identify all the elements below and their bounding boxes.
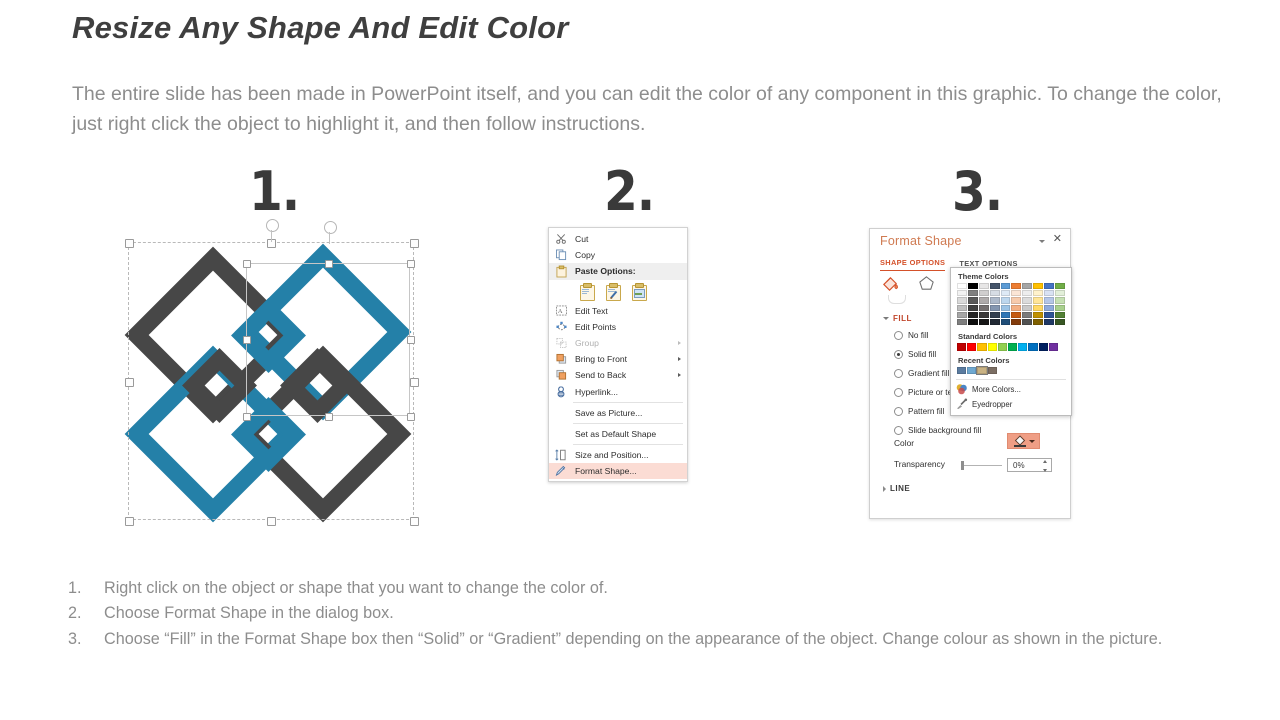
- theme-color-swatch-2-8[interactable]: [1044, 297, 1054, 303]
- transparency-input[interactable]: 0%: [1007, 458, 1052, 472]
- step-number-3: 3.: [952, 160, 1002, 223]
- theme-color-swatch-1-2[interactable]: [979, 290, 989, 296]
- submenu-arrow-icon: [678, 357, 681, 361]
- rotate-stem-inner: [329, 232, 330, 244]
- menu-item-edit-points[interactable]: Edit Points: [549, 319, 687, 335]
- edit-points-icon: [554, 320, 568, 333]
- instruction-item: 1. Right click on the object or shape th…: [68, 576, 1278, 601]
- menu-item-hyperlink[interactable]: Hyperlink...: [549, 384, 687, 400]
- spinner-down-icon: [1043, 469, 1047, 472]
- rotate-handle-outer-icon[interactable]: [266, 219, 279, 232]
- step-number-1: 1.: [249, 160, 299, 223]
- theme-color-swatch-1-6[interactable]: [1022, 290, 1032, 296]
- transparency-slider-track[interactable]: [962, 465, 1002, 466]
- menu-label: Group: [575, 338, 599, 348]
- format-shape-icon: [554, 465, 568, 478]
- transparency-slider-knob[interactable]: [961, 461, 964, 470]
- more-colors-label: More Colors...: [972, 385, 1021, 394]
- transparency-label: Transparency: [894, 459, 945, 469]
- standard-color-swatch-0[interactable]: [957, 343, 966, 350]
- theme-color-swatch-2-2[interactable]: [979, 297, 989, 303]
- inner-selection-box: [246, 263, 410, 416]
- theme-color-swatch-3-7[interactable]: [1033, 305, 1043, 311]
- menu-separator: [573, 444, 683, 445]
- active-icon-underline: [888, 295, 906, 304]
- shape-selection-area[interactable]: [118, 228, 424, 530]
- theme-color-swatch-0-0[interactable]: [957, 283, 967, 289]
- menu-item-edit-text[interactable]: A Edit Text: [549, 303, 687, 319]
- theme-color-swatch-0-9[interactable]: [1055, 283, 1065, 289]
- line-section-header[interactable]: LINE: [883, 484, 910, 493]
- theme-color-swatch-5-5[interactable]: [1011, 319, 1021, 325]
- paste-use-destination-theme-icon[interactable]: [605, 283, 620, 299]
- recent-color-swatch-1[interactable]: [967, 367, 976, 374]
- inner-handle-top-left[interactable]: [243, 260, 251, 268]
- scissors-icon: [554, 233, 568, 246]
- theme-color-swatch-2-0[interactable]: [957, 297, 967, 303]
- radio-solid-fill[interactable]: Solid fill: [894, 350, 936, 359]
- dropdown-separator: [956, 379, 1066, 380]
- menu-item-group: Group: [549, 335, 687, 351]
- page-subtitle: The entire slide has been made in PowerP…: [72, 80, 1222, 139]
- theme-color-swatch-4-0[interactable]: [957, 312, 967, 318]
- theme-color-swatch-0-5[interactable]: [1011, 283, 1021, 289]
- group-icon: [554, 337, 568, 350]
- theme-color-swatch-2-7[interactable]: [1033, 297, 1043, 303]
- radio-label: No fill: [908, 331, 928, 340]
- radio-gradient-fill[interactable]: Gradient fill: [894, 369, 949, 378]
- standard-color-swatch-5[interactable]: [1008, 343, 1017, 350]
- menu-item-save-as-picture[interactable]: Save as Picture...: [549, 405, 687, 421]
- standard-color-swatch-7[interactable]: [1028, 343, 1037, 350]
- theme-color-swatch-4-8[interactable]: [1044, 312, 1054, 318]
- menu-item-cut[interactable]: Cut: [549, 231, 687, 247]
- menu-label: Set as Default Shape: [575, 429, 656, 439]
- standard-color-swatch-6[interactable]: [1018, 343, 1027, 350]
- theme-color-swatch-5-8[interactable]: [1044, 319, 1054, 325]
- theme-color-swatch-2-5[interactable]: [1011, 297, 1021, 303]
- menu-item-format-shape[interactable]: Format Shape...: [549, 463, 687, 479]
- theme-color-swatch-0-6[interactable]: [1022, 283, 1032, 289]
- transparency-value: 0%: [1013, 461, 1025, 470]
- radio-indicator: [894, 407, 903, 416]
- theme-color-swatch-5-2[interactable]: [979, 319, 989, 325]
- instruction-number: 2.: [68, 601, 104, 626]
- menu-label: Send to Back: [575, 370, 626, 380]
- menu-item-copy[interactable]: Copy: [549, 247, 687, 263]
- theme-color-swatch-3-1[interactable]: [968, 305, 978, 311]
- instruction-text: Choose Format Shape in the dialog box.: [104, 601, 1278, 626]
- radio-slide-background-fill[interactable]: Slide background fill: [894, 426, 981, 435]
- clipboard-icon: [554, 265, 568, 278]
- standard-color-swatch-1[interactable]: [967, 343, 976, 350]
- color-label: Color: [894, 438, 914, 448]
- radio-indicator: [894, 426, 903, 435]
- instruction-text: Right click on the object or shape that …: [104, 576, 1278, 601]
- theme-color-swatch-0-1[interactable]: [968, 283, 978, 289]
- theme-color-swatch-4-3[interactable]: [990, 312, 1000, 318]
- close-icon[interactable]: ✕: [1053, 234, 1062, 245]
- radio-label: Pattern fill: [908, 407, 944, 416]
- radio-indicator: [894, 350, 903, 359]
- spinner-up-icon: [1043, 460, 1047, 463]
- svg-text:A: A: [557, 308, 562, 315]
- recent-color-swatch-2[interactable]: [977, 367, 986, 374]
- menu-label: Paste Options:: [575, 266, 636, 276]
- theme-color-swatch-5-0[interactable]: [957, 319, 967, 325]
- spinner-buttons[interactable]: [1041, 460, 1049, 472]
- theme-color-swatch-3-2[interactable]: [979, 305, 989, 311]
- theme-color-swatch-4-6[interactable]: [1022, 312, 1032, 318]
- fill-bucket-icon: [1013, 435, 1027, 447]
- tab-shape-options[interactable]: SHAPE OPTIONS: [880, 258, 945, 271]
- resize-handle-middle-left[interactable]: [125, 378, 134, 387]
- theme-color-swatch-3-3[interactable]: [990, 305, 1000, 311]
- inner-handle-top-right[interactable]: [407, 260, 415, 268]
- menu-label: Save as Picture...: [575, 408, 642, 418]
- standard-color-swatch-4[interactable]: [998, 343, 1007, 350]
- standard-colors-title: Standard Colors: [951, 330, 1071, 343]
- theme-color-swatch-4-1[interactable]: [968, 312, 978, 318]
- theme-color-swatch-3-9[interactable]: [1055, 305, 1065, 311]
- radio-label: Slide background fill: [908, 426, 981, 435]
- send-to-back-icon: [554, 369, 568, 382]
- instruction-number: 1.: [68, 576, 104, 601]
- theme-color-swatch-3-0[interactable]: [957, 305, 967, 311]
- standard-color-swatch-2[interactable]: [977, 343, 986, 350]
- theme-color-swatch-2-9[interactable]: [1055, 297, 1065, 303]
- eyedropper-label: Eyedropper: [972, 400, 1012, 409]
- collapse-triangle-icon: [883, 486, 886, 492]
- inner-handle-middle-left[interactable]: [243, 336, 251, 344]
- theme-color-swatch-3-8[interactable]: [1044, 305, 1054, 311]
- resize-handle-bottom-left[interactable]: [125, 517, 134, 526]
- theme-color-swatch-1-9[interactable]: [1055, 290, 1065, 296]
- standard-colors-row[interactable]: [951, 343, 1071, 353]
- radio-indicator: [894, 388, 903, 397]
- theme-color-swatch-1-1[interactable]: [968, 290, 978, 296]
- theme-color-swatch-0-8[interactable]: [1044, 283, 1054, 289]
- color-wheel-icon: [956, 384, 968, 395]
- theme-color-swatch-4-5[interactable]: [1011, 312, 1021, 318]
- chevron-down-icon[interactable]: [1039, 240, 1045, 243]
- copy-icon: [554, 249, 568, 262]
- theme-color-swatch-1-5[interactable]: [1011, 290, 1021, 296]
- instruction-item: 3. Choose “Fill” in the Format Shape box…: [68, 627, 1278, 652]
- menu-separator: [573, 402, 683, 403]
- size-position-icon: [554, 449, 568, 462]
- menu-label: Format Shape...: [575, 466, 637, 476]
- submenu-arrow-icon: [678, 373, 681, 377]
- radio-indicator: [894, 369, 903, 378]
- color-dropdown-arrow-icon[interactable]: [1029, 440, 1035, 443]
- submenu-arrow-icon: [678, 341, 681, 345]
- rotate-stem-outer: [271, 230, 272, 242]
- page-title: Resize Any Shape And Edit Color: [72, 10, 569, 46]
- recent-colors-title: Recent Colors: [951, 354, 1071, 367]
- theme-color-swatch-2-6[interactable]: [1022, 297, 1032, 303]
- menu-label: Copy: [575, 250, 595, 260]
- instruction-number: 3.: [68, 627, 104, 652]
- theme-color-swatch-4-2[interactable]: [979, 312, 989, 318]
- effects-icon[interactable]: [916, 274, 938, 294]
- theme-color-swatch-0-3[interactable]: [990, 283, 1000, 289]
- menu-item-paste-options[interactable]: Paste Options:: [549, 263, 687, 279]
- theme-color-swatch-2-3[interactable]: [990, 297, 1000, 303]
- recent-color-swatch-3[interactable]: [988, 367, 997, 374]
- theme-color-swatch-5-3[interactable]: [990, 319, 1000, 325]
- theme-colors-grid[interactable]: [951, 283, 1071, 327]
- paste-picture-icon[interactable]: [631, 283, 646, 299]
- fill-color-button[interactable]: [1007, 433, 1040, 449]
- radio-label: Solid fill: [908, 350, 936, 359]
- theme-color-swatch-5-1[interactable]: [968, 319, 978, 325]
- radio-label: Gradient fill: [908, 369, 949, 378]
- color-dropdown[interactable]: Theme Colors Standard Colors Recent Colo…: [950, 267, 1072, 416]
- standard-color-swatch-9[interactable]: [1049, 343, 1058, 350]
- theme-color-swatch-1-4[interactable]: [1001, 290, 1011, 296]
- more-colors-option[interactable]: More Colors...: [951, 382, 1071, 397]
- instruction-text: Choose “Fill” in the Format Shape box th…: [104, 627, 1278, 652]
- theme-color-swatch-5-9[interactable]: [1055, 319, 1065, 325]
- theme-color-swatch-0-2[interactable]: [979, 283, 989, 289]
- eyedropper-icon: [956, 399, 968, 410]
- instructions-list: 1. Right click on the object or shape th…: [68, 576, 1278, 652]
- radio-pattern-fill[interactable]: Pattern fill: [894, 407, 944, 416]
- recent-colors-row[interactable]: [951, 367, 1071, 377]
- step-number-2: 2.: [604, 160, 654, 223]
- slide-canvas: Resize Any Shape And Edit Color The enti…: [0, 0, 1280, 720]
- recent-color-swatch-0[interactable]: [957, 367, 966, 374]
- theme-color-swatch-4-4[interactable]: [1001, 312, 1011, 318]
- resize-handle-top-right[interactable]: [410, 239, 419, 248]
- radio-no-fill[interactable]: No fill: [894, 331, 928, 340]
- theme-color-swatch-5-7[interactable]: [1033, 319, 1043, 325]
- inner-handle-bottom-left[interactable]: [243, 413, 251, 421]
- theme-colors-title: Theme Colors: [951, 270, 1071, 283]
- fill-section-header[interactable]: FILL: [883, 314, 912, 323]
- theme-color-swatch-0-4[interactable]: [1001, 283, 1011, 289]
- menu-label: Edit Text: [575, 306, 608, 316]
- theme-color-swatch-1-8[interactable]: [1044, 290, 1054, 296]
- menu-item-send-to-back[interactable]: Send to Back: [549, 367, 687, 383]
- theme-color-swatch-3-4[interactable]: [1001, 305, 1011, 311]
- menu-label: Cut: [575, 234, 588, 244]
- menu-item-bring-to-front[interactable]: Bring to Front: [549, 351, 687, 367]
- resize-handle-top-left[interactable]: [125, 239, 134, 248]
- theme-color-swatch-2-1[interactable]: [968, 297, 978, 303]
- menu-label: Size and Position...: [575, 450, 649, 460]
- menu-label: Edit Points: [575, 322, 616, 332]
- inner-handle-top-center[interactable]: [325, 260, 333, 268]
- theme-color-swatch-1-3[interactable]: [990, 290, 1000, 296]
- theme-color-swatch-1-7[interactable]: [1033, 290, 1043, 296]
- menu-label: Bring to Front: [575, 354, 627, 364]
- eyedropper-option[interactable]: Eyedropper: [951, 397, 1071, 412]
- edit-text-icon: A: [554, 304, 568, 317]
- resize-handle-bottom-right[interactable]: [410, 517, 419, 526]
- theme-color-swatch-5-4[interactable]: [1001, 319, 1011, 325]
- rotate-handle-inner-icon[interactable]: [324, 221, 337, 234]
- theme-color-swatch-3-6[interactable]: [1022, 305, 1032, 311]
- resize-handle-bottom-center[interactable]: [267, 517, 276, 526]
- theme-color-swatch-2-4[interactable]: [1001, 297, 1011, 303]
- theme-color-swatch-3-5[interactable]: [1011, 305, 1021, 311]
- theme-color-swatch-0-7[interactable]: [1033, 283, 1043, 289]
- menu-label: Hyperlink...: [575, 387, 618, 397]
- menu-separator: [573, 423, 683, 424]
- standard-color-swatch-8[interactable]: [1039, 343, 1048, 350]
- paste-options-row[interactable]: [549, 280, 687, 303]
- inner-handle-bottom-center[interactable]: [325, 413, 333, 421]
- format-pane-title: Format Shape: [880, 234, 962, 248]
- inner-handle-middle-right[interactable]: [407, 336, 415, 344]
- instruction-item: 2. Choose Format Shape in the dialog box…: [68, 601, 1278, 626]
- theme-color-swatch-1-0[interactable]: [957, 290, 967, 296]
- fill-and-line-icon[interactable]: [880, 274, 902, 294]
- hyperlink-icon: [554, 385, 568, 398]
- theme-color-swatch-5-6[interactable]: [1022, 319, 1032, 325]
- menu-item-set-as-default-shape[interactable]: Set as Default Shape: [549, 426, 687, 442]
- radio-indicator: [894, 331, 903, 340]
- resize-handle-middle-right[interactable]: [410, 378, 419, 387]
- theme-color-swatch-4-7[interactable]: [1033, 312, 1043, 318]
- bring-to-front-icon: [554, 353, 568, 366]
- context-menu[interactable]: Cut Copy Paste Options:: [548, 227, 688, 482]
- theme-color-swatch-4-9[interactable]: [1055, 312, 1065, 318]
- paste-keep-source-formatting-icon[interactable]: [579, 283, 594, 299]
- standard-color-swatch-3[interactable]: [988, 343, 997, 350]
- expand-triangle-icon: [883, 317, 889, 320]
- inner-handle-bottom-right[interactable]: [407, 413, 415, 421]
- menu-item-size-and-position[interactable]: Size and Position...: [549, 447, 687, 463]
